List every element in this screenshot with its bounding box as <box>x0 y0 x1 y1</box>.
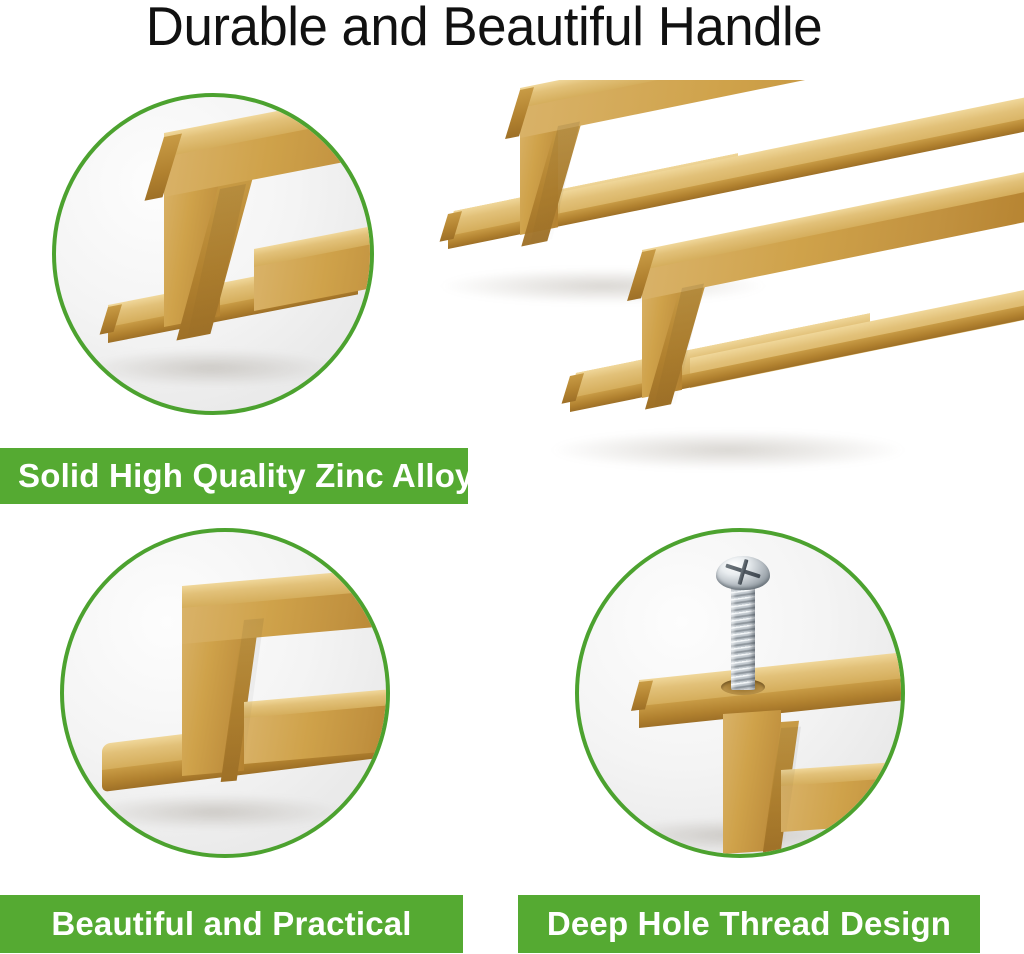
screw-shaft <box>731 578 755 690</box>
feature-banner-zinc-label: Solid High Quality Zinc Alloy <box>18 457 468 495</box>
thread-lower-rail-face <box>781 776 905 832</box>
circle-frame-icon <box>56 97 370 411</box>
page-title: Durable and Beautiful Handle <box>19 0 948 56</box>
feature-banner-practical: Beautiful and Practical <box>0 895 463 953</box>
hero-shadow-front <box>548 430 908 470</box>
feature-banner-practical-label: Beautiful and Practical <box>0 905 463 943</box>
feature-banner-thread: Deep Hole Thread Design <box>518 895 980 953</box>
circle-frame-icon <box>579 532 901 854</box>
feature-photo-zinc <box>52 93 374 415</box>
front-baseplate-edge <box>570 304 1024 412</box>
feature-photo-practical <box>60 528 390 858</box>
zinc-ground-shadow <box>86 349 336 387</box>
product-infographic: Durable and Beautiful Handle <box>0 0 1024 954</box>
feature-banner-zinc: Solid High Quality Zinc Alloy <box>0 448 468 504</box>
feature-photo-thread <box>575 528 905 858</box>
hero-product-photo <box>430 80 1024 500</box>
feature-banner-thread-label: Deep Hole Thread Design <box>518 905 980 943</box>
circle-frame-icon <box>64 532 386 854</box>
practical-ground-shadow <box>84 794 344 830</box>
